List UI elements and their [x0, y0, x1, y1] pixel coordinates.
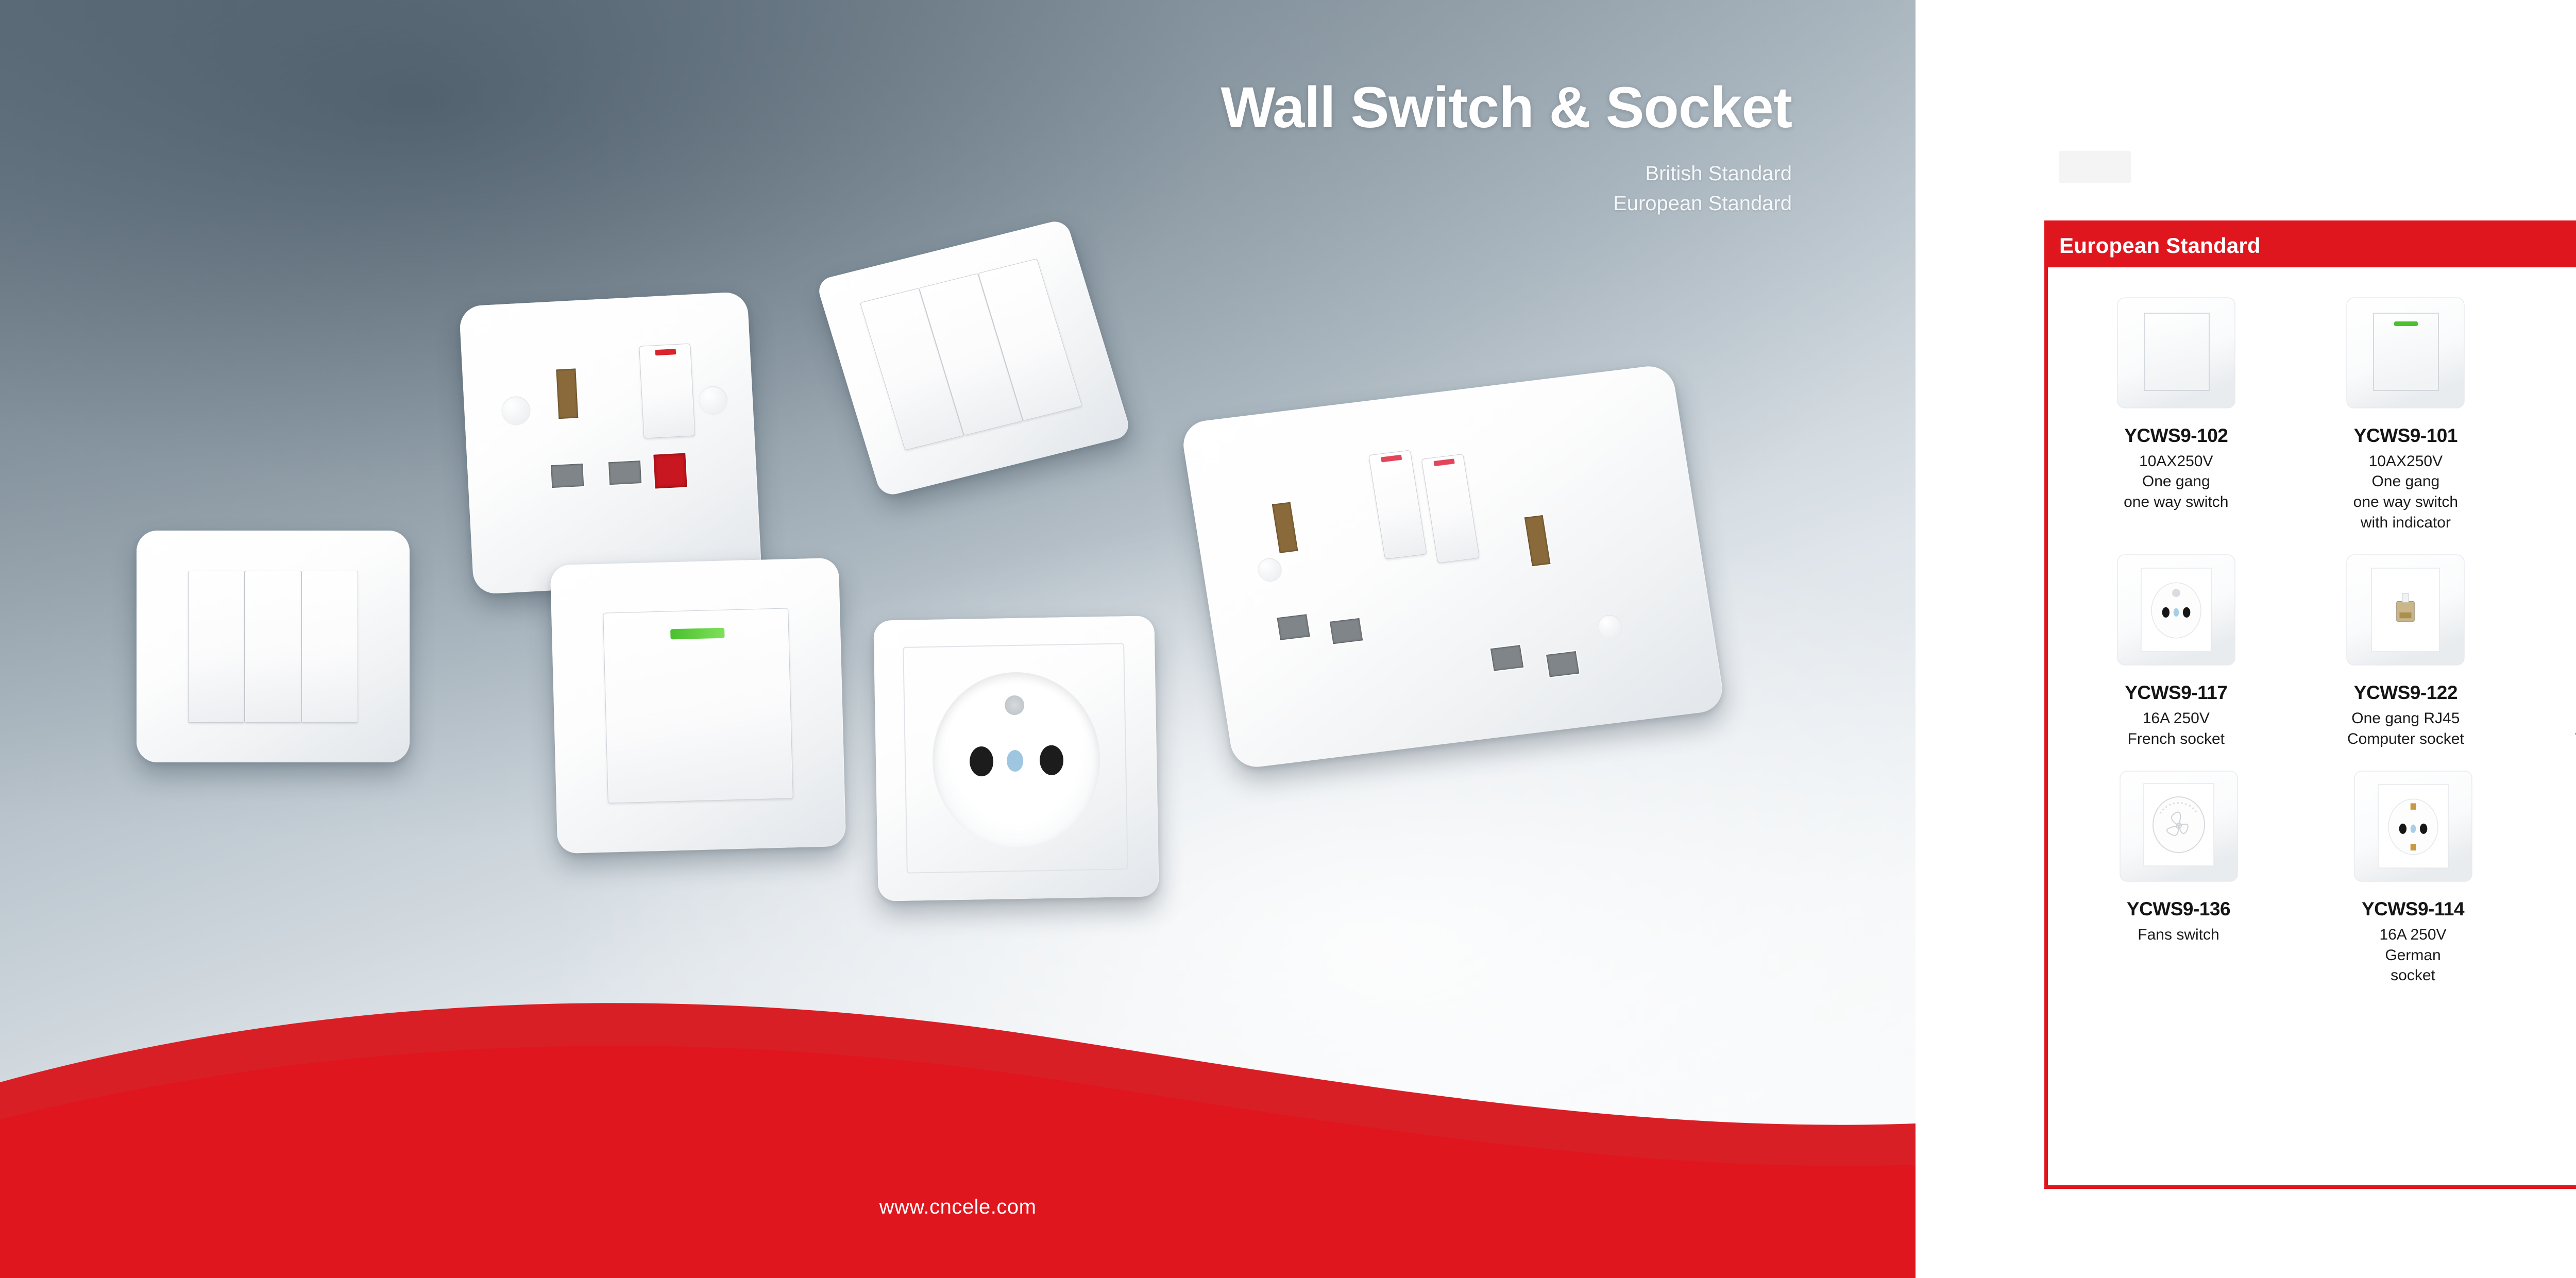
page-title: Wall Switch & Socket	[1221, 77, 1792, 138]
product-cell[interactable]: YCWS9-12816A 250VDoubleRussian socket	[2530, 760, 2576, 986]
left-page: Wall Switch & Socket British Standard Eu…	[0, 0, 1916, 1278]
product-cell[interactable]: YCWS9-10210AX250VOne gangone way switch	[2061, 287, 2291, 533]
product-description-line: One gang	[2124, 471, 2228, 492]
page-subtitle: British Standard European Standard	[1221, 159, 1792, 218]
website-url[interactable]: www.cncele.com	[0, 1196, 1916, 1219]
rj45-socket-icon	[2346, 544, 2465, 676]
product-description-line: with indicator	[2353, 513, 2458, 533]
product-description-line: 16A 250V	[2379, 925, 2446, 945]
product-description: One gang RJ45Computer socket	[2347, 708, 2464, 749]
product-cell[interactable]: YCWS9-10610AX250VTwo gangone way switch	[2520, 287, 2576, 533]
product-photo-french-socket	[873, 616, 1159, 901]
product-code: YCWS9-114	[2362, 899, 2464, 919]
product-code: YCWS9-101	[2354, 426, 2458, 446]
catalog-spread: Wall Switch & Socket British Standard Eu…	[0, 0, 2576, 1278]
product-description-line: one way switch	[2353, 492, 2458, 513]
switch-1gang-icon	[2116, 287, 2236, 419]
product-cell[interactable]: YCWS9-136Fans switch	[2061, 760, 2296, 986]
product-code: YCWS9-102	[2124, 426, 2228, 446]
product-description-line: Computer socket	[2347, 729, 2464, 749]
left-page-title-block: Wall Switch & Socket British Standard Eu…	[1221, 77, 1792, 218]
product-description-line: socket	[2379, 965, 2446, 986]
product-description-line: French socket	[2128, 729, 2225, 749]
product-description-line: one way switch	[2124, 492, 2228, 513]
product-code: YCWS9-122	[2354, 683, 2458, 703]
product-description: 16A 250VFrench socket	[2128, 708, 2225, 749]
product-row-2: YCWS9-11716A 250VFrench socketYCWS9-122O…	[2061, 544, 2576, 749]
product-cell[interactable]: YCWS9-11716A 250VFrench socket	[2061, 544, 2291, 749]
product-photo-uk-double-switched-socket	[1180, 364, 1726, 770]
product-description-line: One gang RJ45	[2347, 708, 2464, 729]
product-code: YCWS9-117	[2125, 683, 2227, 703]
catalog-body: YCWS9-10210AX250VOne gangone way switchY…	[2048, 267, 2576, 998]
red-wave-footer	[0, 917, 1916, 1278]
product-cell[interactable]: YCWS9-125Two gang RJ11Telephone socket	[2520, 544, 2576, 749]
product-description: 10AX250VOne gangone way switchwith indic…	[2353, 451, 2458, 533]
product-photo-one-gang-switch-indicator	[550, 558, 846, 854]
product-description: 10AX250VOne gangone way switch	[2124, 451, 2228, 513]
right-page: Wall Switch & Socket European Standard Y…	[1916, 0, 2576, 1278]
product-description-line: 10AX250V	[2353, 451, 2458, 472]
product-description-line: One gang	[2353, 471, 2458, 492]
switch-1gang-indicator-icon	[2346, 287, 2465, 419]
product-description-line: 16A 250V	[2128, 708, 2225, 729]
product-description-line: Fans switch	[2138, 925, 2219, 945]
product-description-line: German	[2379, 945, 2446, 966]
product-photo-three-gang-switch-angled	[816, 218, 1132, 498]
product-cell[interactable]: YCWS9-11416A 250VGermansocket	[2296, 760, 2530, 986]
product-photo-uk-single-switched-socket	[459, 292, 762, 595]
section-band-label: European Standard	[2059, 233, 2261, 258]
subtitle-line-european: European Standard	[1221, 189, 1792, 218]
german-socket-icon	[2353, 760, 2473, 892]
product-row-1: YCWS9-10210AX250VOne gangone way switchY…	[2061, 287, 2576, 533]
section-band: European Standard	[2048, 224, 2576, 267]
french-socket-icon	[2116, 544, 2236, 676]
fan-speed-knob-icon	[2119, 760, 2239, 892]
product-description-line: 10AX250V	[2124, 451, 2228, 472]
product-cell[interactable]: YCWS9-10110AX250VOne gangone way switchw…	[2291, 287, 2521, 533]
ghost-artifact	[2059, 151, 2131, 183]
product-row-3: YCWS9-136Fans switchYCWS9-11416A 250VGer…	[2061, 760, 2576, 986]
product-description: 16A 250VGermansocket	[2379, 925, 2446, 986]
catalog-frame: European Standard YCWS9-10210AX250VOne g…	[2044, 220, 2576, 1189]
subtitle-line-british: British Standard	[1221, 159, 1792, 189]
product-description: Fans switch	[2138, 925, 2219, 945]
product-cell[interactable]: YCWS9-122One gang RJ45Computer socket	[2291, 544, 2521, 749]
product-photo-three-gang-switch	[137, 531, 410, 762]
product-code: YCWS9-136	[2127, 899, 2230, 919]
